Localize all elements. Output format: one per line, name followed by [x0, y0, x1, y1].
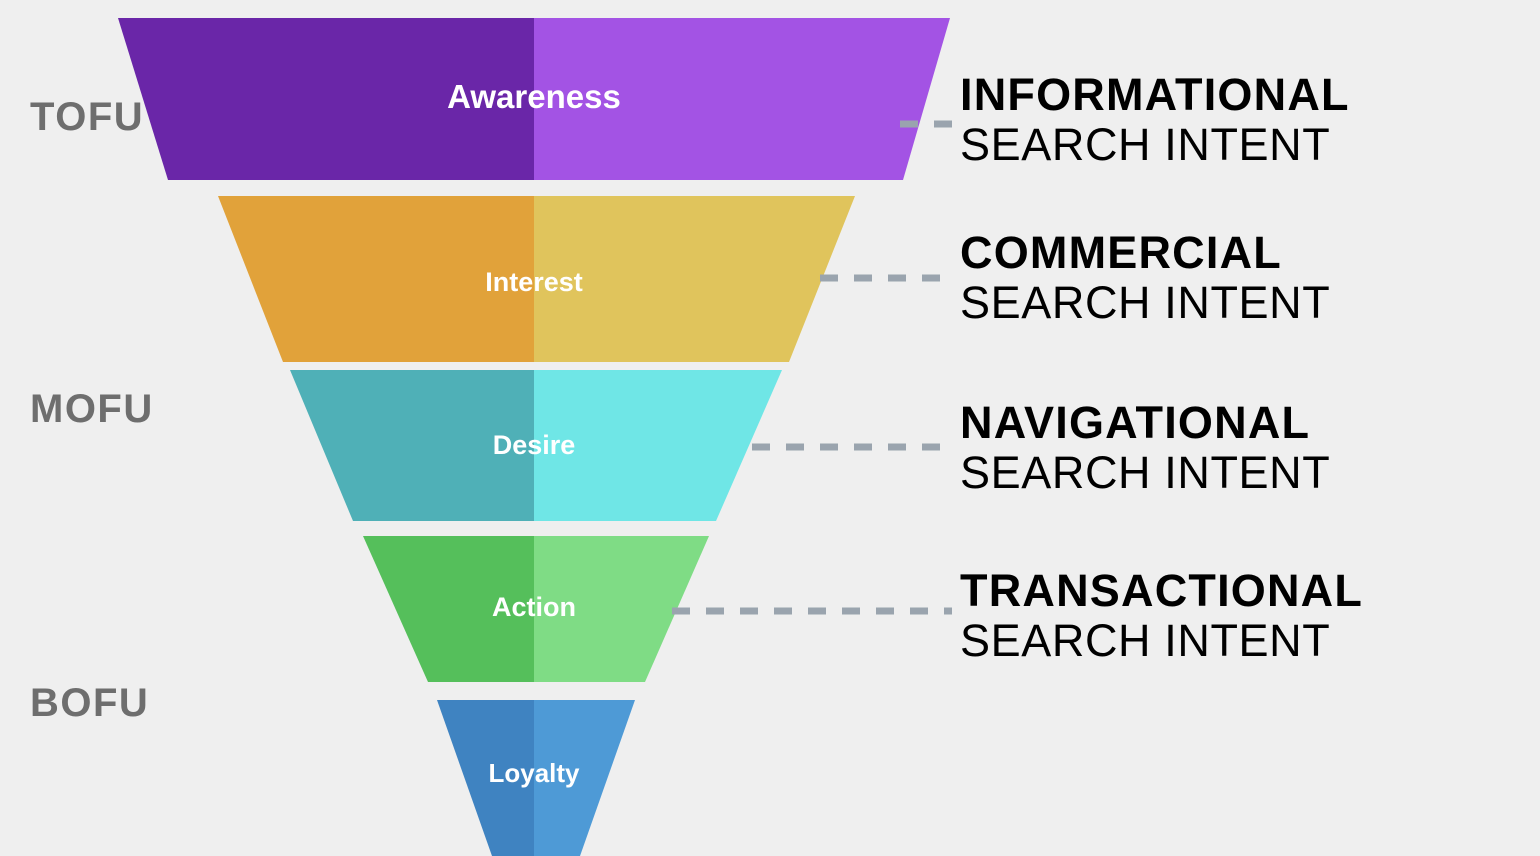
funnel-segment-awareness[interactable]: Awareness [118, 18, 950, 180]
commercial-title: COMMERCIAL [960, 228, 1330, 278]
desire-label: Desire [493, 430, 576, 460]
stage-labels-group: TOFU MOFU BOFU [30, 95, 154, 725]
loyalty-label: Loyalty [488, 758, 580, 788]
funnel-segment-desire[interactable]: Desire [290, 370, 782, 521]
stage-label-mofu: MOFU [30, 387, 154, 431]
intent-block-navigational: NAVIGATIONAL SEARCH INTENT [960, 398, 1330, 498]
commercial-subtitle: SEARCH INTENT [960, 278, 1330, 328]
interest-label: Interest [485, 267, 583, 297]
funnel-diagram-canvas: TOFU MOFU BOFU Awareness Interest Desire… [0, 0, 1540, 856]
stage-label-tofu: TOFU [30, 95, 144, 139]
navigational-subtitle: SEARCH INTENT [960, 448, 1330, 498]
stage-label-bofu: BOFU [30, 681, 149, 725]
funnel-segment-interest[interactable]: Interest [218, 196, 855, 362]
awareness-label: Awareness [447, 78, 621, 115]
intent-block-informational: INFORMATIONAL SEARCH INTENT [960, 70, 1350, 170]
funnel-segment-loyalty[interactable]: Loyalty [437, 700, 635, 856]
informational-title: INFORMATIONAL [960, 70, 1350, 120]
informational-subtitle: SEARCH INTENT [960, 120, 1350, 170]
transactional-title: TRANSACTIONAL [960, 566, 1363, 616]
intent-block-commercial: COMMERCIAL SEARCH INTENT [960, 228, 1330, 328]
intent-block-transactional: TRANSACTIONAL SEARCH INTENT [960, 566, 1363, 666]
funnel-segment-action[interactable]: Action [363, 536, 709, 682]
navigational-title: NAVIGATIONAL [960, 398, 1330, 448]
transactional-subtitle: SEARCH INTENT [960, 616, 1363, 666]
action-label: Action [492, 592, 576, 622]
